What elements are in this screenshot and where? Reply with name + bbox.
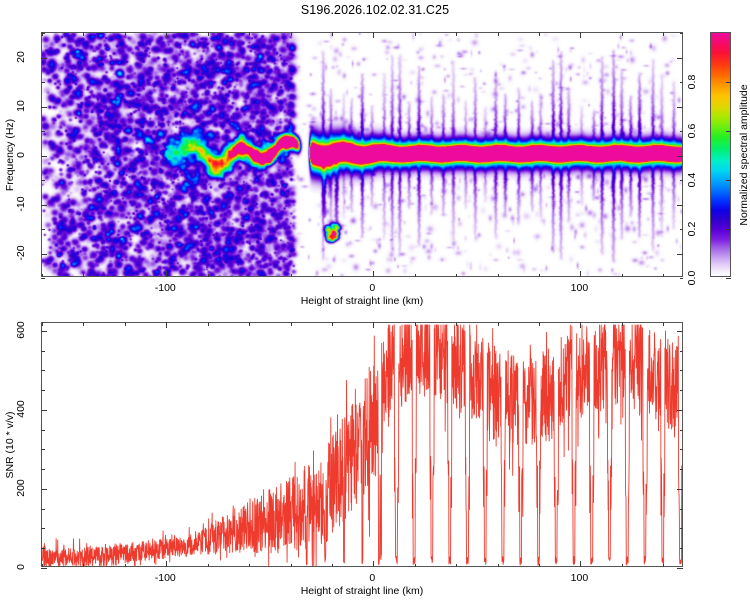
spectrogram-yticklabel: -10 — [13, 190, 29, 218]
spectrogram-image — [42, 33, 682, 276]
spectrogram-xaxis-label: Height of straight line (km) — [41, 295, 683, 307]
spectrogram-yticklabel: 10 — [13, 92, 29, 120]
colorbar-ticklabel: 0.2 — [684, 215, 700, 243]
snr-yticklabel: 600 — [13, 316, 29, 344]
colorbar-tick — [726, 278, 731, 279]
spectrogram-plot-area — [42, 33, 682, 276]
spectrogram-xticklabel: 100 — [551, 282, 607, 294]
colorbar-ticklabel: 0.6 — [684, 117, 700, 145]
spectrogram-yticklabel: 20 — [13, 43, 29, 71]
snr-polyline — [42, 325, 682, 566]
snr-yticklabel: 0 — [13, 553, 29, 581]
snr-ytick-left — [41, 568, 47, 569]
spectrogram-yticklabel: 0 — [13, 141, 29, 169]
snr-xticklabel: 100 — [551, 572, 607, 584]
snr-plot-area — [42, 323, 682, 566]
colorbar-ticklabel: 0.8 — [684, 68, 700, 96]
snr-xticklabel: 0 — [344, 572, 400, 584]
snr-ytick-right — [677, 568, 683, 569]
snr-yticklabel: 200 — [13, 474, 29, 502]
snr-yaxis-label: SNR (10 * v/v) — [4, 411, 16, 478]
figure-root: S196.2026.102.02.31.C25 -1000100Height o… — [0, 0, 750, 600]
colorbar-ticklabel: 0.4 — [684, 166, 700, 194]
spectrogram-ytick-right — [680, 278, 684, 279]
colorbar-ticklabel: 0.0 — [684, 264, 700, 292]
colorbar — [710, 32, 731, 277]
spectrogram-xticklabel: 0 — [344, 282, 400, 294]
snr-panel — [41, 322, 683, 567]
snr-trace — [42, 323, 682, 566]
snr-xaxis-label: Height of straight line (km) — [41, 585, 683, 597]
colorbar-label: Normalized spectral amplitude — [738, 84, 750, 225]
figure-title: S196.2026.102.02.31.C25 — [0, 3, 750, 17]
colorbar-gradient — [711, 33, 730, 276]
spectrogram-ytick-left — [41, 278, 45, 279]
snr-yticklabel: 400 — [13, 395, 29, 423]
spectrogram-yaxis-label: Frequency (Hz) — [4, 118, 16, 190]
spectrogram-xticklabel: -100 — [137, 282, 193, 294]
spectrogram-yticklabel: -20 — [13, 239, 29, 267]
spectrogram-panel — [41, 32, 683, 277]
snr-xticklabel: -100 — [137, 572, 193, 584]
